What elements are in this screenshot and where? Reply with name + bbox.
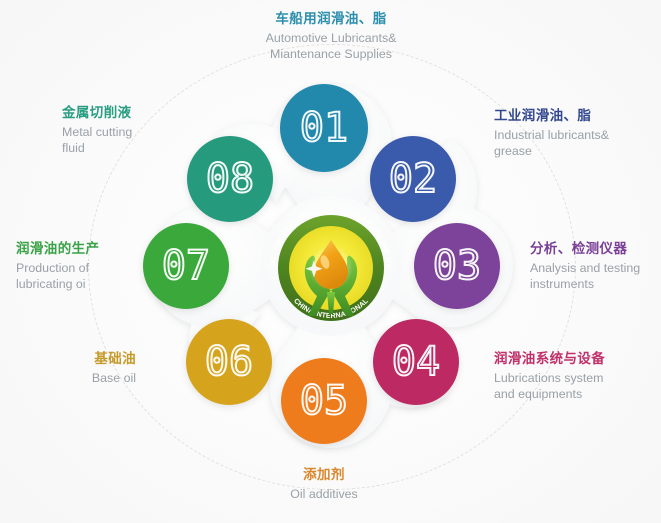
label-07: 润滑油的生产 Production of lubricating oi bbox=[16, 240, 141, 293]
label-03-cn: 分析、检测仪器 bbox=[530, 240, 661, 258]
label-04-en-line2: and equipments bbox=[494, 386, 659, 402]
node-03-number: 03 bbox=[433, 246, 481, 286]
label-06-en-line1: Base oil bbox=[18, 370, 136, 386]
label-02: 工业润滑油、脂 Industrial lubricants& grease bbox=[494, 107, 654, 160]
label-08-cn: 金属切削液 bbox=[62, 104, 192, 122]
node-06-number: 06 bbox=[205, 342, 253, 382]
label-03-en-line2: instruments bbox=[530, 276, 661, 292]
label-02-en-line1: Industrial lubricants& bbox=[494, 127, 654, 143]
node-04[interactable]: 04 bbox=[373, 319, 459, 405]
label-02-cn: 工业润滑油、脂 bbox=[494, 107, 654, 125]
label-06-cn: 基础油 bbox=[18, 350, 136, 368]
label-07-en-line1: Production of bbox=[16, 260, 141, 276]
node-08[interactable]: 08 bbox=[187, 136, 273, 222]
node-08-number: 08 bbox=[206, 159, 254, 199]
node-05-number: 05 bbox=[300, 381, 348, 421]
label-08-en-line1: Metal cutting bbox=[62, 124, 192, 140]
node-04-number: 04 bbox=[392, 342, 440, 382]
expo-logo: LUBRICATING OIL, GREASE, MAINTENANCE SUP… bbox=[264, 212, 398, 324]
label-02-en-line2: grease bbox=[494, 143, 654, 159]
node-02[interactable]: 02 bbox=[370, 136, 456, 222]
label-04-en-line1: Lubrications system bbox=[494, 370, 659, 386]
node-03[interactable]: 03 bbox=[414, 223, 500, 309]
label-08-en-line2: fluid bbox=[62, 140, 192, 156]
infographic-canvas: 01 02 03 04 05 06 07 08 bbox=[0, 0, 661, 523]
label-05-en-line1: Oil additives bbox=[259, 486, 389, 502]
label-07-en-line2: lubricating oi bbox=[16, 276, 141, 292]
label-07-cn: 润滑油的生产 bbox=[16, 240, 141, 258]
label-01: 车船用润滑油、脂 Automotive Lubricants& Miantena… bbox=[236, 10, 426, 63]
label-04: 润滑油系统与设备 Lubrications system and equipme… bbox=[494, 350, 659, 403]
node-06[interactable]: 06 bbox=[186, 319, 272, 405]
label-05-cn: 添加剂 bbox=[259, 466, 389, 484]
label-08: 金属切削液 Metal cutting fluid bbox=[62, 104, 192, 157]
node-07[interactable]: 07 bbox=[143, 223, 229, 309]
node-02-number: 02 bbox=[389, 159, 437, 199]
node-01-number: 01 bbox=[300, 108, 348, 148]
label-06: 基础油 Base oil bbox=[18, 350, 136, 386]
label-03-en-line1: Analysis and testing bbox=[530, 260, 661, 276]
node-05[interactable]: 05 bbox=[281, 358, 367, 444]
node-01[interactable]: 01 bbox=[280, 84, 368, 172]
label-01-en-line1: Automotive Lubricants& bbox=[236, 30, 426, 46]
label-03: 分析、检测仪器 Analysis and testing instruments bbox=[530, 240, 661, 293]
label-01-en-line2: Miantenance Supplies bbox=[236, 46, 426, 62]
node-07-number: 07 bbox=[162, 246, 210, 286]
label-04-cn: 润滑油系统与设备 bbox=[494, 350, 659, 368]
label-01-cn: 车船用润滑油、脂 bbox=[236, 10, 426, 28]
label-05: 添加剂 Oil additives bbox=[259, 466, 389, 502]
